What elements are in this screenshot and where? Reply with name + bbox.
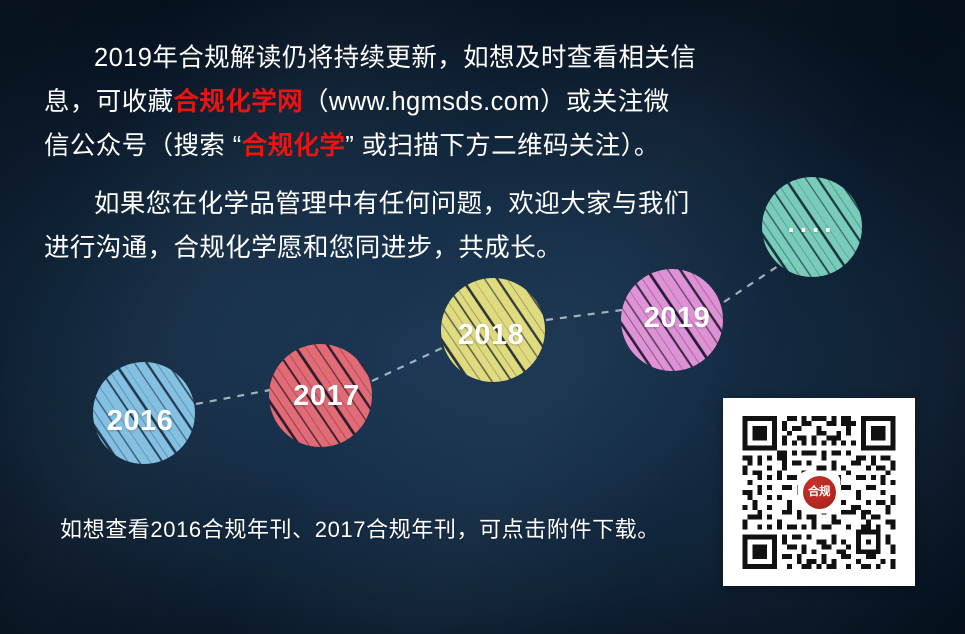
paragraph-1-line-3-post: ” 或扫描下方二维码关注）。: [345, 132, 659, 160]
intro-text-block: 2019年合规解读仍将持续更新，如想及时查看相关信 息，可收藏合规化学网（www…: [0, 36, 760, 270]
connector-2018-2019: [546, 310, 622, 320]
timeline-node-label: 2016: [107, 405, 174, 438]
paragraph-2-line-1: 如果您在化学品管理中有任何问题，欢迎大家与我们: [94, 190, 690, 218]
timeline-node-2017[interactable]: 2017: [269, 344, 372, 447]
paragraph-1: 2019年合规解读仍将持续更新，如想及时查看相关信 息，可收藏合规化学网（www…: [44, 36, 760, 168]
timeline-node-2018[interactable]: 2018: [441, 278, 545, 382]
qr-code-panel[interactable]: 合规: [723, 398, 915, 586]
paragraph-2: 如果您在化学品管理中有任何问题，欢迎大家与我们 进行沟通，合规化学愿和您同进步，…: [44, 182, 760, 270]
timeline-node-label: 2018: [458, 319, 525, 352]
connector-2016-2017: [196, 390, 270, 404]
qr-center-logo: 合规: [799, 472, 839, 512]
account-name-highlight: 合规化学: [242, 132, 346, 160]
paragraph-1-line-1: 2019年合规解读仍将持续更新，如想及时查看相关信: [94, 44, 696, 72]
timeline-node-2016[interactable]: 2016: [93, 362, 195, 464]
timeline-node-2019[interactable]: 2019: [621, 269, 723, 371]
timeline-node-label: 2017: [293, 380, 360, 413]
paragraph-2-line-2: 进行沟通，合规化学愿和您同进步，共成长。: [44, 234, 562, 262]
timeline-node-label: ....: [788, 208, 837, 239]
paragraph-1-line-3-pre: 信公众号（搜索 “: [44, 132, 242, 160]
qr-logo-text: 合规: [803, 476, 836, 509]
timeline-node-more[interactable]: ....: [762, 177, 862, 277]
poster-canvas: 2019年合规解读仍将持续更新，如想及时查看相关信 息，可收藏合规化学网（www…: [0, 0, 965, 634]
paragraph-1-line-2-pre: 息，可收藏: [44, 88, 174, 116]
site-name-highlight: 合规化学网: [174, 88, 304, 116]
timeline-node-label: 2019: [644, 302, 711, 335]
connector-2017-2018: [372, 348, 442, 381]
attachment-caption: 如想查看2016合规年刊、2017合规年刊，可点击附件下载。: [60, 512, 660, 544]
paragraph-1-line-2-post: （www.hgmsds.com）或关注微: [303, 88, 669, 116]
